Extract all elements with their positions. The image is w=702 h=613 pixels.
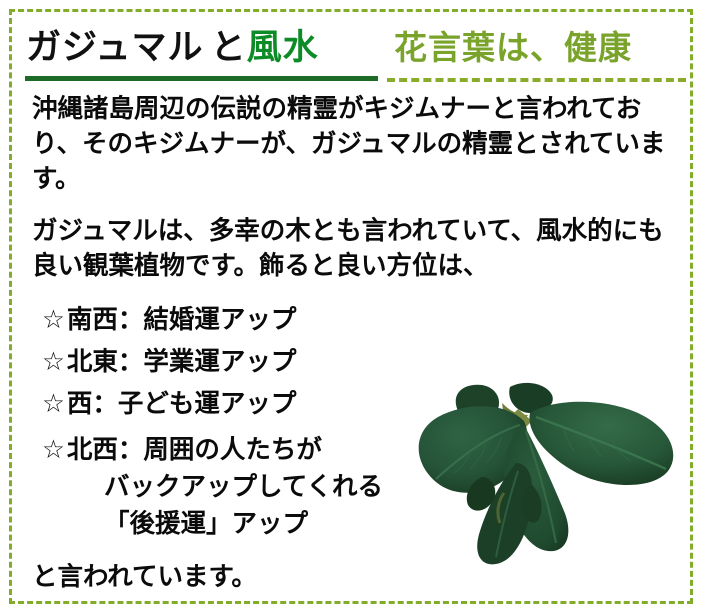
list-item-label: 南西：結婚運アップ <box>67 305 297 335</box>
title-underline-rule <box>25 76 378 81</box>
content-area: ガジュマルと風水 花言葉は、健康 沖縄諸島周辺の伝説の精霊がキジムナーと言われて… <box>12 12 690 601</box>
list-item-label: 北東：学業運アップ <box>67 347 297 377</box>
star-icon: ☆ <box>42 390 65 418</box>
gajumaru-ficus-leaves-photo <box>406 381 688 581</box>
list-item-label: 西：子ども運アップ <box>67 389 297 419</box>
star-icon: ☆ <box>42 432 65 469</box>
plant-illustration <box>406 381 688 581</box>
paragraph-fengshui: ガジュマルは、多幸の木とも言われていて、風水的にも良い観葉植物です。飾ると良い方… <box>32 214 684 284</box>
page-title-keyword: 風水 <box>247 28 319 68</box>
paragraph-legend: 沖縄諸島周辺の伝説の精霊がキジムナーと言われており、そのキジムナーが、ガジュマル… <box>32 92 684 197</box>
list-item-label: 北西：周囲の人たちが <box>67 435 322 465</box>
star-icon: ☆ <box>42 306 65 334</box>
subtitle-dashed-rule <box>387 78 686 82</box>
page-title: ガジュマルと風水 <box>26 19 319 70</box>
page-title-conjunction: と <box>211 28 247 68</box>
decorative-dashed-frame: ガジュマルと風水 花言葉は、健康 沖縄諸島周辺の伝説の精霊がキジムナーと言われて… <box>9 9 693 604</box>
header: ガジュマルと風水 花言葉は、健康 <box>12 12 690 84</box>
page-subtitle: 花言葉は、健康 <box>394 21 632 69</box>
closing-sentence: と言われています。 <box>32 556 257 593</box>
star-icon: ☆ <box>42 348 65 376</box>
page-title-prefix: ガジュマル <box>26 28 204 68</box>
list-item: ☆南西：結婚運アップ <box>32 306 472 334</box>
list-item: ☆北東：学業運アップ <box>32 348 472 376</box>
